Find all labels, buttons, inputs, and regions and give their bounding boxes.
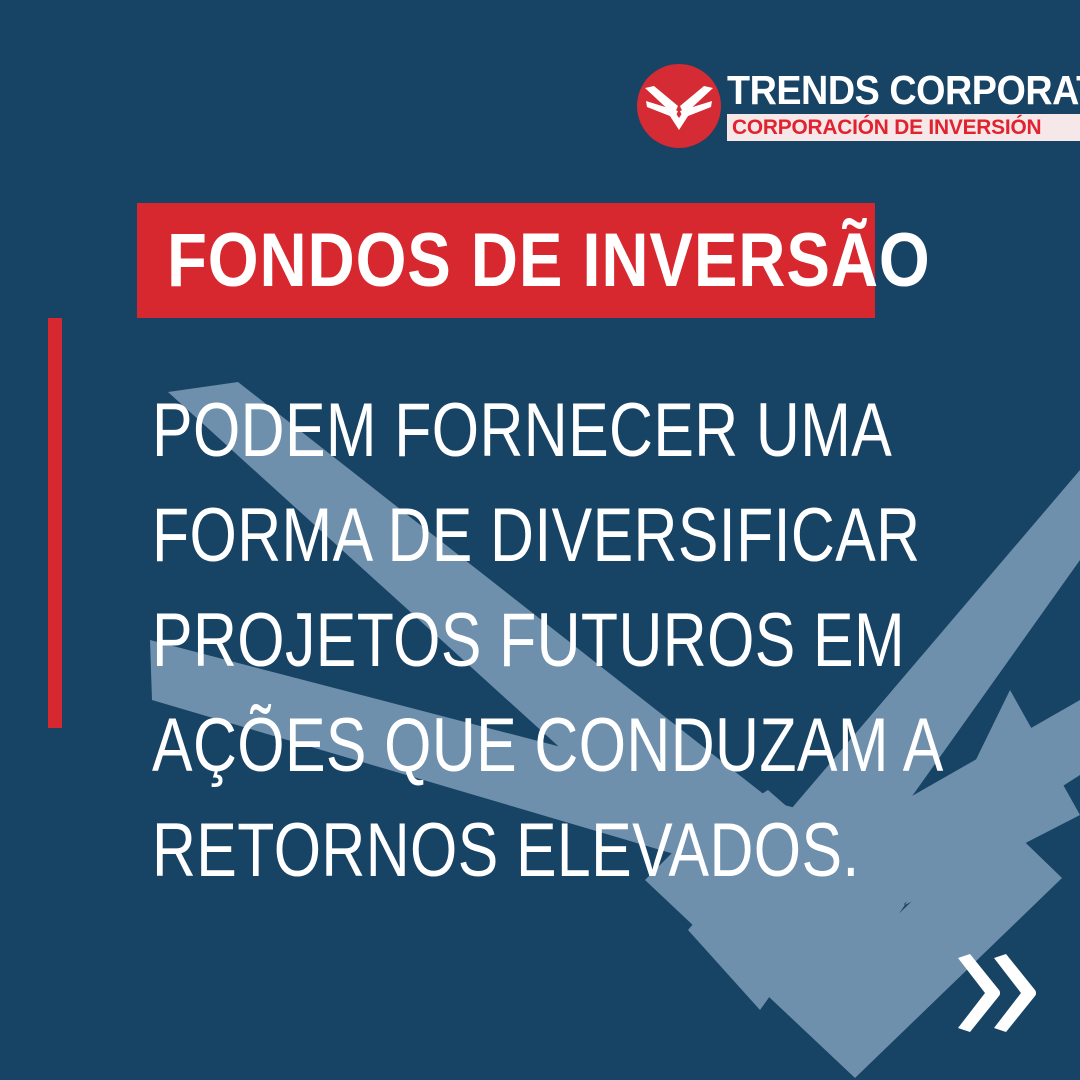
brand-title: TRENDS CORPORATION (727, 71, 1080, 110)
brand-logo: TRENDS CORPORATION CORPORACIÓN DE INVERS… (637, 62, 1027, 150)
body-copy: PODEM FORNECER UMA FORMA DE DIVERSIFICAR… (152, 378, 952, 903)
accent-rule (48, 318, 62, 728)
double-chevron-right-icon[interactable] (952, 952, 1036, 1034)
poster-canvas: TRENDS CORPORATION CORPORACIÓN DE INVERS… (0, 0, 1080, 1080)
headline-title: FONDOS DE INVERSÃO (167, 223, 931, 299)
body-line: RETORNOS ELEVADOS. (152, 798, 792, 903)
body-line: PODEM FORNECER UMA (152, 378, 792, 483)
headline-banner: FONDOS DE INVERSÃO (137, 203, 875, 318)
brand-text-block: TRENDS CORPORATION CORPORACIÓN DE INVERS… (727, 71, 1080, 141)
eagle-wings-icon (637, 64, 721, 148)
body-line: AÇÕES QUE CONDUZAM A (152, 693, 792, 798)
brand-subtitle: CORPORACIÓN DE INVERSIÓN (732, 117, 1080, 139)
brand-subtitle-bar: CORPORACIÓN DE INVERSIÓN (727, 114, 1080, 142)
body-line: FORMA DE DIVERSIFICAR (152, 483, 792, 588)
body-line: PROJETOS FUTUROS EM (152, 588, 792, 693)
